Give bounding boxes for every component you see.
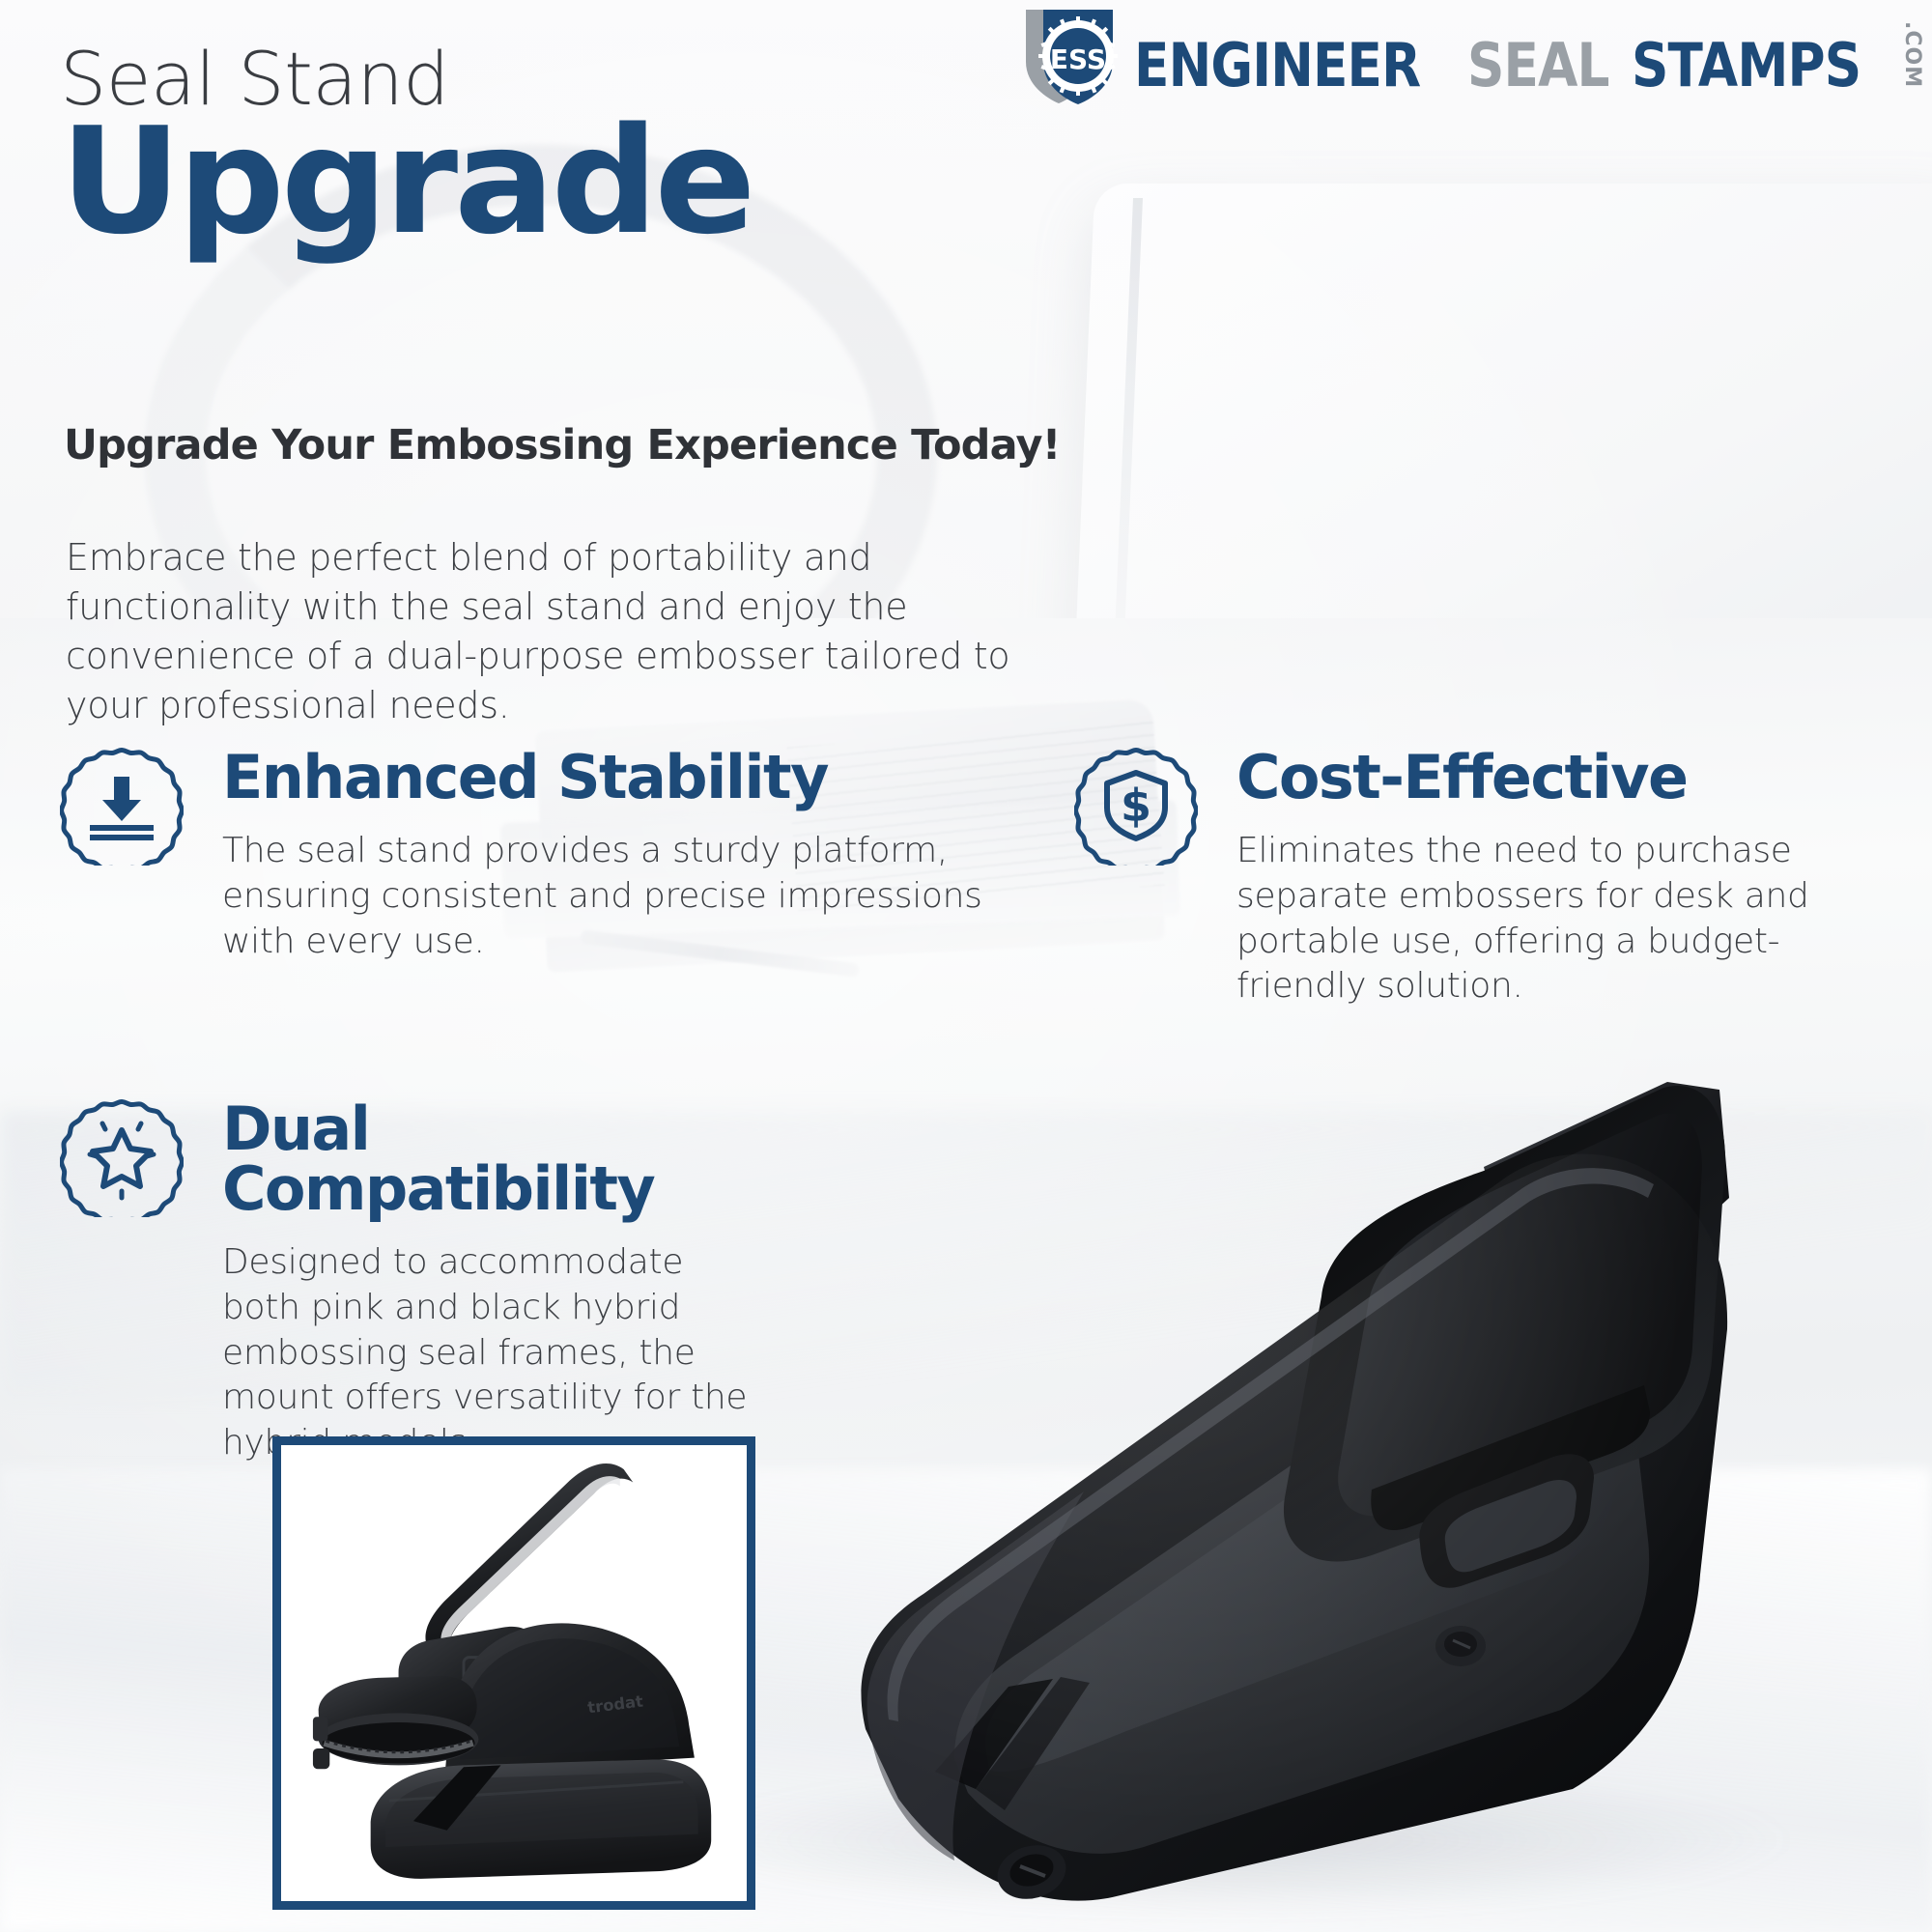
embosser-on-seal-stand-photo: trodat xyxy=(281,1445,747,1901)
feature-title: Cost-Effective xyxy=(1236,748,1903,808)
feature-title: Dual Compatibility xyxy=(222,1099,763,1219)
star-sparkle-badge-icon xyxy=(60,1094,184,1217)
feature-enhanced-stability: Enhanced Stability The seal stand provid… xyxy=(60,742,1045,964)
ess-shield-icon: ESS xyxy=(1020,6,1124,108)
brand-wordmark: ENGINEER SEAL STAMPS .COM xyxy=(1134,21,1924,92)
feature-dual-compatibility: Dual Compatibility Designed to accommoda… xyxy=(60,1094,736,1466)
subheadline: Upgrade Your Embossing Experience Today! xyxy=(64,421,1061,469)
brand-logo[interactable]: ESS ENGINEER SEAL STAMPS .COM xyxy=(1020,6,1924,108)
feature-text: Eliminates the need to purchase separate… xyxy=(1236,829,1903,1009)
feature-title: Enhanced Stability xyxy=(222,748,1034,808)
inset-product-photo-frame: trodat xyxy=(272,1436,755,1910)
feature-cost-effective: $ Cost-Effective Eliminates the need to … xyxy=(1074,742,1905,1009)
brand-word-stamps: STAMPS xyxy=(1632,38,1861,93)
down-arrow-press-badge-icon xyxy=(60,742,184,866)
page-title: Seal Stand Upgrade xyxy=(60,41,738,251)
brand-word-engineer: ENGINEER xyxy=(1134,38,1420,93)
shield-dollar-badge-icon: $ xyxy=(1074,742,1198,866)
title-main: Upgrade xyxy=(60,112,753,251)
intro-paragraph: Embrace the perfect blend of portability… xyxy=(66,533,1051,730)
svg-text:$: $ xyxy=(1121,780,1151,832)
infographic-canvas: ESS ENGINEER SEAL STAMPS .COM Seal Stand… xyxy=(0,0,1932,1932)
brand-domain-suffix: .COM xyxy=(1900,21,1924,88)
svg-text:ESS: ESS xyxy=(1050,43,1106,75)
feature-text: The seal stand provides a sturdy platfor… xyxy=(222,829,1034,964)
black-seal-stand-product-photo xyxy=(831,1053,1932,1922)
feature-text: Designed to accommodate both pink and bl… xyxy=(222,1240,763,1466)
brand-word-seal: SEAL xyxy=(1467,38,1609,93)
